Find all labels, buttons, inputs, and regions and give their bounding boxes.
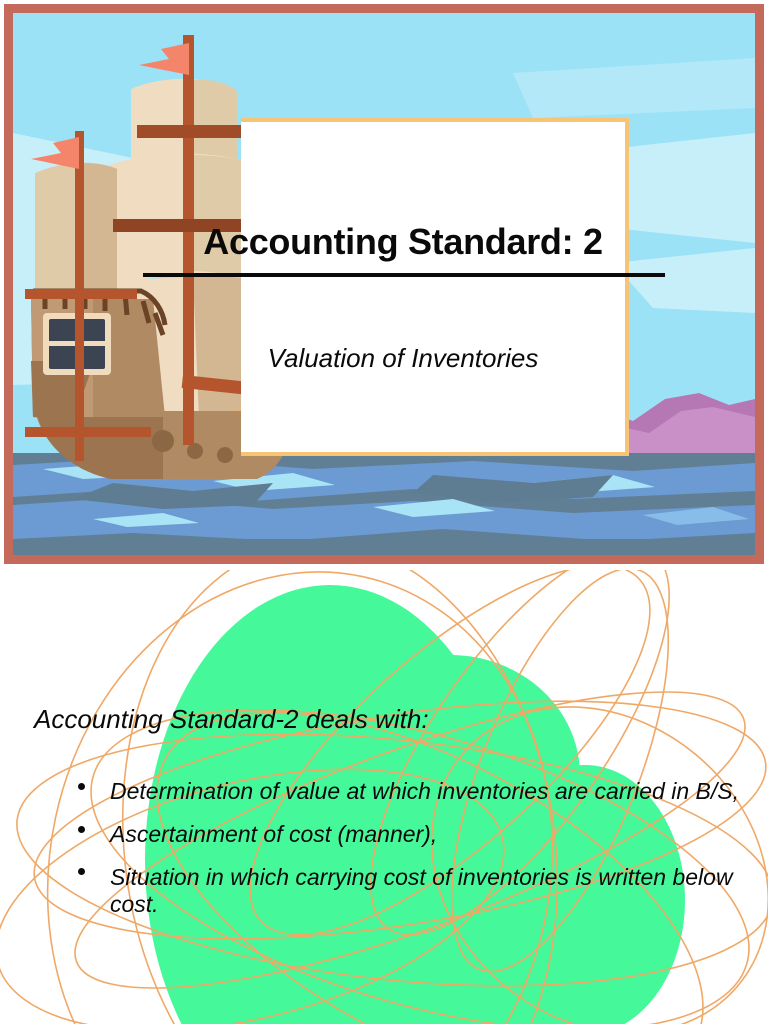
list-item: Situation in which carrying cost of inve… [72,864,762,918]
bullet-dot-icon [78,783,85,790]
title-slide-frame: Accounting Standard: 2 Valuation of Inve… [4,4,764,564]
bullet-dot-icon [78,868,85,875]
title-content-panel [241,118,629,456]
title-heading-underline [143,273,665,277]
title-slide: Accounting Standard: 2 Valuation of Inve… [0,0,768,568]
content-lead-line: Accounting Standard-2 deals with: [34,704,429,735]
list-item: Determination of value at which inventor… [72,778,762,805]
title-slide-heading: Accounting Standard: 2 [133,221,673,263]
list-item-label: Ascertainment of cost (manner), [110,821,437,847]
content-bullet-list: Determination of value at which inventor… [72,778,762,934]
list-item-label: Determination of value at which inventor… [110,778,739,804]
content-text-layer: Accounting Standard-2 deals with: Determ… [0,570,768,1024]
list-item-label: Situation in which carrying cost of inve… [110,864,733,917]
content-slide: Accounting Standard-2 deals with: Determ… [0,570,768,1024]
bullet-dot-icon [78,826,85,833]
list-item: Ascertainment of cost (manner), [72,821,762,848]
title-slide-subheading: Valuation of Inventories [163,343,643,374]
